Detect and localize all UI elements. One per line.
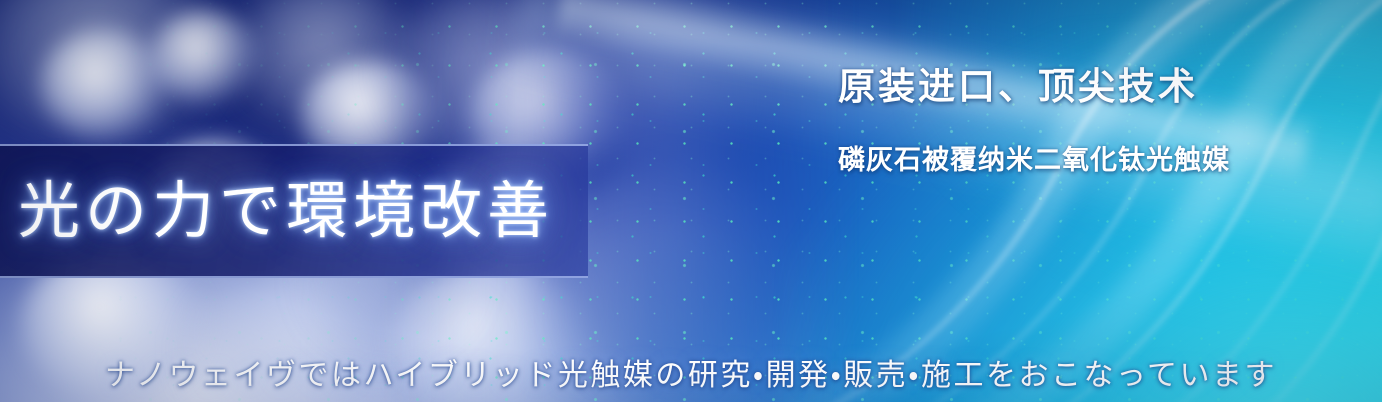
headline-band: 光の力で環境改善 — [0, 144, 588, 278]
promo-primary-text: 原装进口、顶尖技术 — [838, 66, 1358, 109]
promo-copy: 原装进口、顶尖技术 磷灰石被覆纳米二氧化钛光触媒 — [838, 66, 1358, 177]
hero-banner: 光の力で環境改善 原装进口、顶尖技术 磷灰石被覆纳米二氧化钛光触媒 ナノウェイヴ… — [0, 0, 1382, 402]
headline-text: 光の力で環境改善 — [18, 180, 554, 242]
promo-secondary-text: 磷灰石被覆纳米二氧化钛光触媒 — [838, 145, 1358, 177]
tagline-text: ナノウェイヴではハイブリッド光触媒の研究・開発・販売・施工をおこなっています — [0, 350, 1382, 394]
